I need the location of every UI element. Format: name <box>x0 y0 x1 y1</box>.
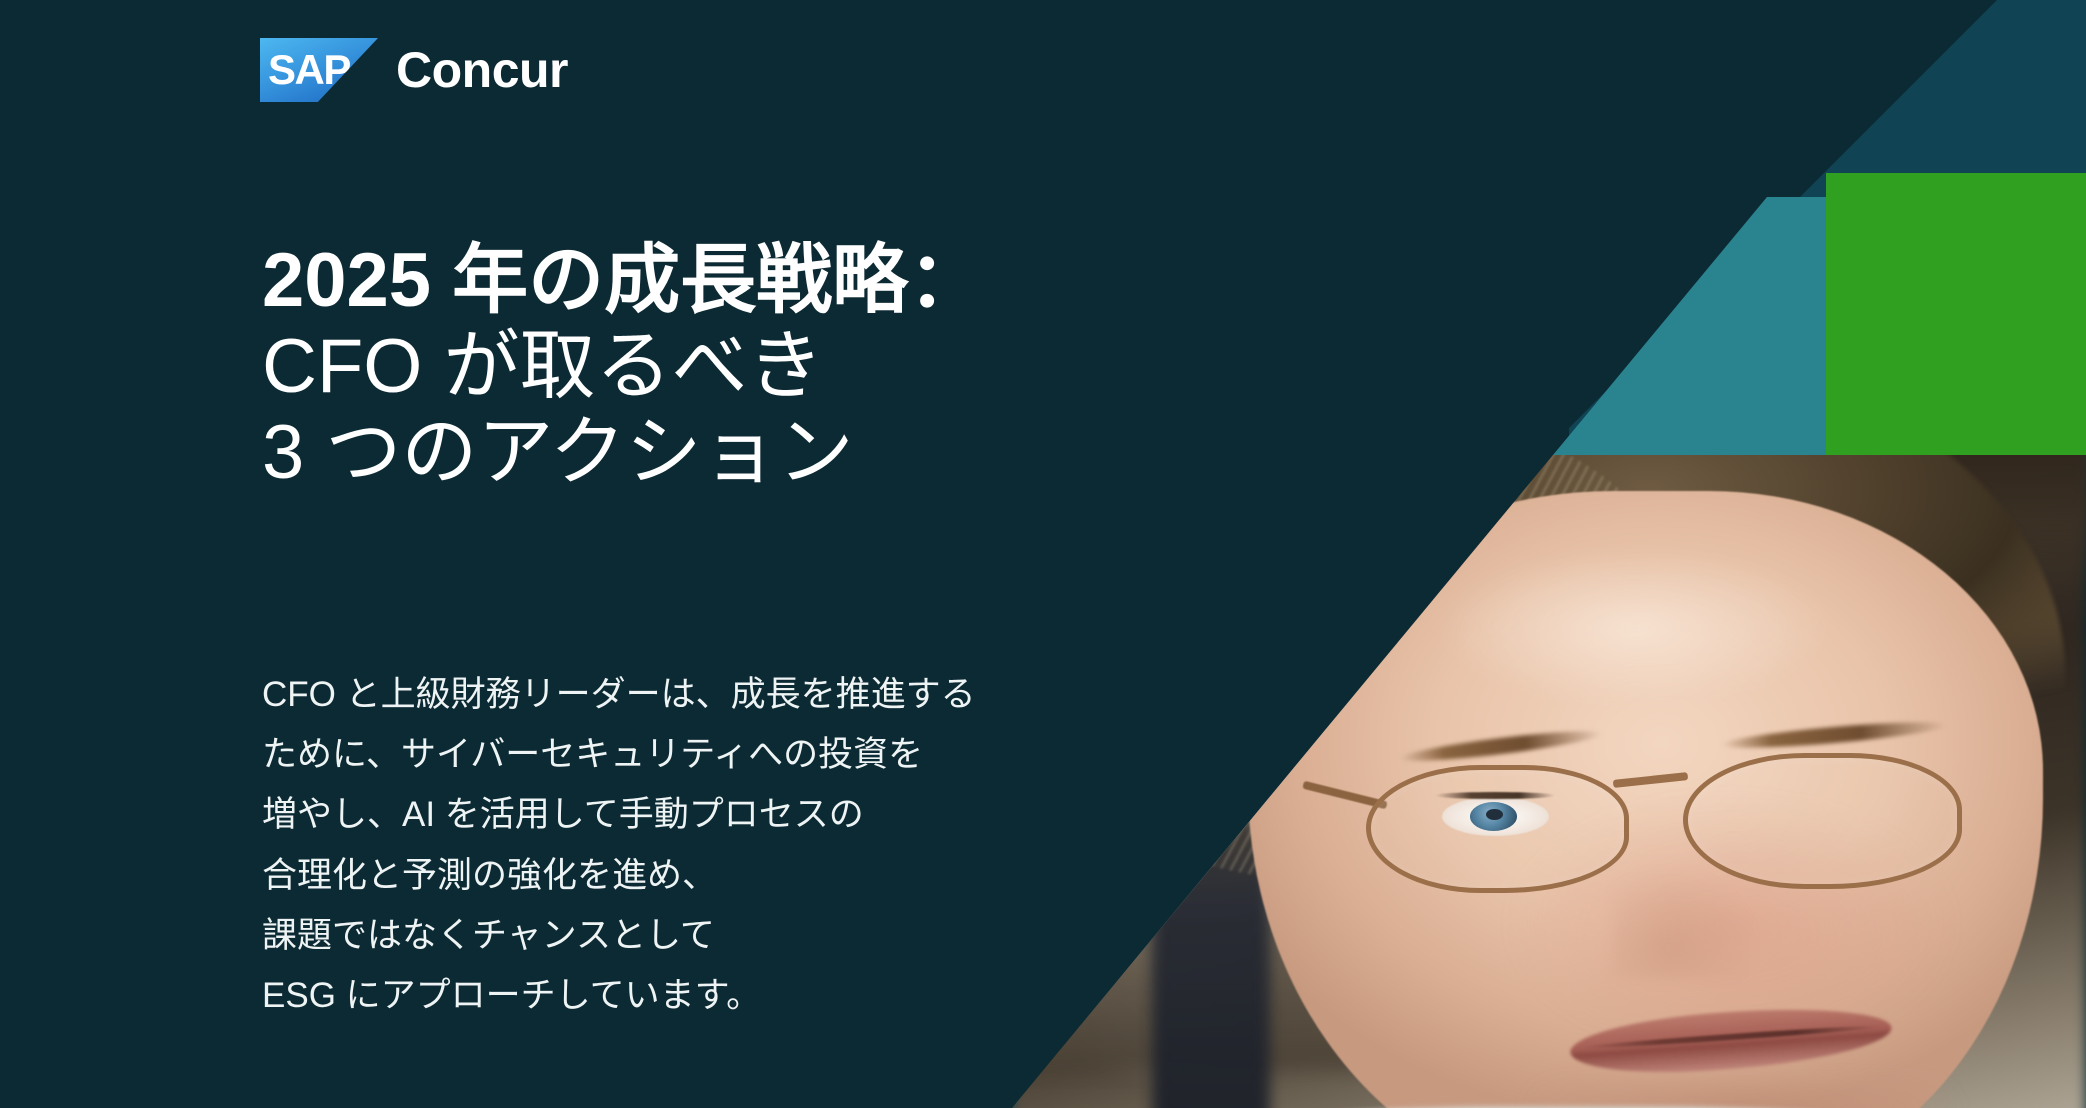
sap-logo-icon: SAP <box>260 38 378 102</box>
concur-wordmark: Concur <box>396 45 568 95</box>
photo-chin-shading <box>1528 1084 1958 1108</box>
photo-glasses-lens-left <box>1366 765 1628 893</box>
body-line-5: 課題ではなくチャンスとして <box>262 906 1182 966</box>
photo-nose-shading <box>1613 871 1753 977</box>
photo-forehead-highlight <box>1442 552 1829 704</box>
body-line-4: 合理化と予測の強化を進め、 <box>262 846 1182 906</box>
headline-line-3: 3 つのアクション <box>262 410 1342 496</box>
hero-banner: SAP Concur 2025 年の成長戦略： CFO が取るべき 3 つのアク… <box>0 0 2086 1108</box>
headline-line-2: CFO が取るべき <box>262 324 1342 410</box>
body-line-3: 増やし、AI を活用して手動プロセスの <box>262 785 1182 845</box>
body-line-1: CFO と上級財務リーダーは、成長を推進する <box>262 665 1182 725</box>
page-title: 2025 年の成長戦略： CFO が取るべき 3 つのアクション <box>262 238 1342 496</box>
body-line-6: ESG にアプローチしています。 <box>262 966 1182 1026</box>
headline-line-1: 2025 年の成長戦略： <box>262 238 1342 324</box>
green-accent-rectangle <box>1826 173 2086 455</box>
sap-concur-logo[interactable]: SAP Concur <box>260 38 568 102</box>
hero-description: CFO と上級財務リーダーは、成長を推進する ために、サイバーセキュリティへの投… <box>262 665 1182 1026</box>
sap-logo-text: SAP <box>268 46 350 94</box>
body-line-2: ために、サイバーセキュリティへの投資を <box>262 725 1182 785</box>
photo-glasses-lens-right <box>1683 753 1962 888</box>
